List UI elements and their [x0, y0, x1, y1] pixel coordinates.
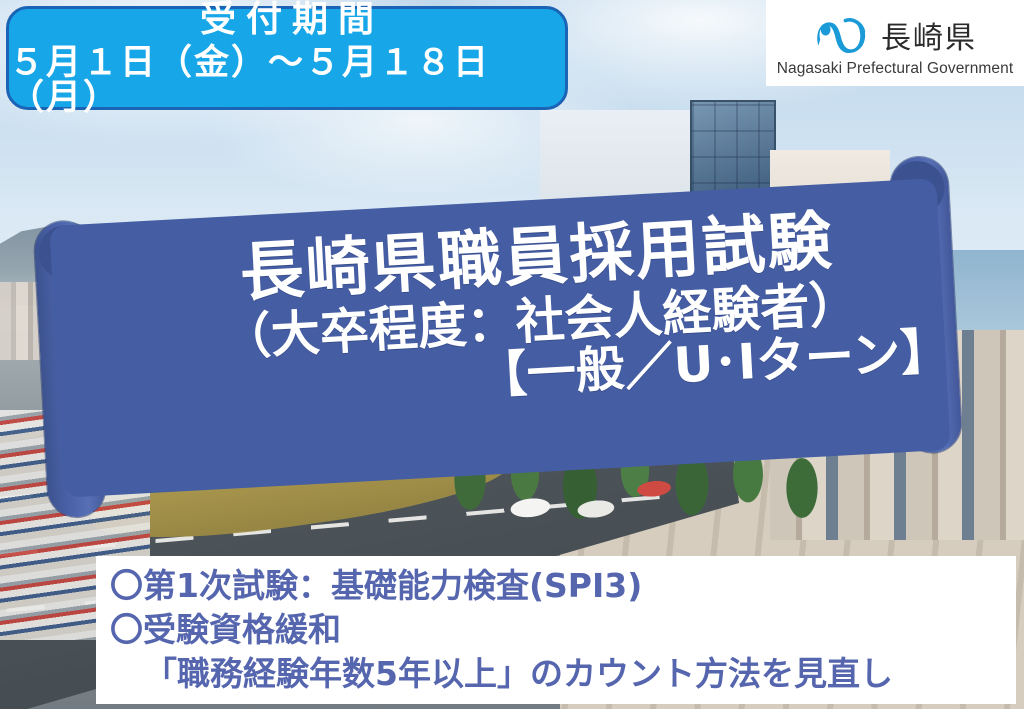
- recruitment-poster: 受付期間 ５月１日（金）～５月１８日（月） 長崎県 Nagasaki Prefe…: [0, 0, 1024, 709]
- exam-note-line-3: 「職務経験年数5年以上」のカウント方法を見直し: [110, 652, 1016, 696]
- scroll-banner-body: 長崎県職員採用試験 （大卒程度：社会人経験者） 【一般／U･Iターン】: [49, 178, 950, 498]
- prefecture-logo: 長崎県 Nagasaki Prefectural Government: [766, 0, 1024, 86]
- scroll-banner: 長崎県職員採用試験 （大卒程度：社会人経験者） 【一般／U･Iターン】: [7, 162, 990, 514]
- logo-row: 長崎県: [813, 13, 977, 57]
- exam-note-line-1: 〇第1次試験：基礎能力検査(SPI3): [110, 564, 1016, 608]
- exam-notes-box: 〇第1次試験：基礎能力検査(SPI3) 〇受験資格緩和 「職務経験年数5年以上」…: [96, 556, 1016, 704]
- application-period-range: ５月１日（金）～５月１８日（月）: [9, 45, 565, 115]
- logo-jp-name: 長崎県: [881, 13, 977, 57]
- nagasaki-wave-n-mark-icon: [813, 15, 867, 55]
- logo-en-name: Nagasaki Prefectural Government: [777, 60, 1014, 78]
- poster-title-block: 長崎県職員採用試験 （大卒程度：社会人経験者） 【一般／U･Iターン】: [111, 203, 969, 422]
- application-period-title: 受付期間: [190, 1, 384, 37]
- application-period-badge: 受付期間 ５月１日（金）～５月１８日（月）: [6, 6, 568, 110]
- exam-note-line-2: 〇受験資格緩和: [110, 608, 1016, 652]
